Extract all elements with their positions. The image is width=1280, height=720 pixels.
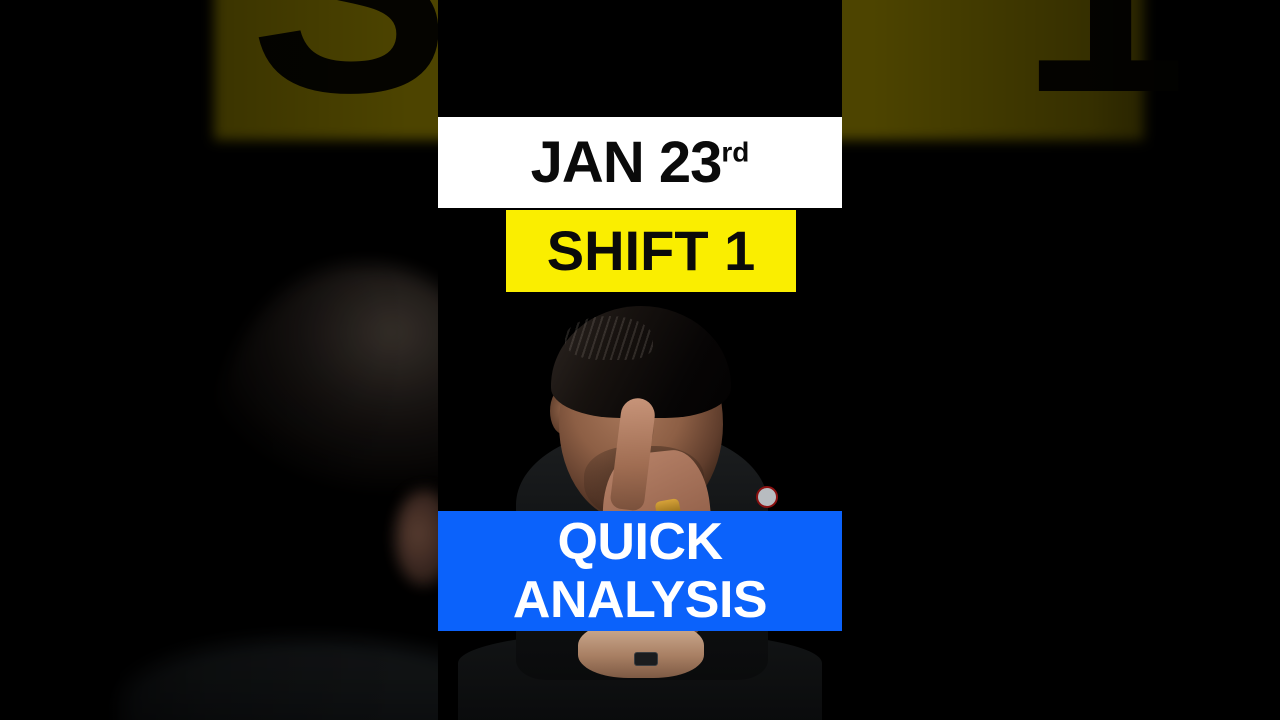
shift-banner: SHIFT 1	[506, 210, 796, 292]
shift-banner-text: SHIFT 1	[547, 223, 755, 279]
date-banner-suffix: rd	[721, 136, 749, 167]
shirt-badge	[756, 486, 778, 508]
analysis-banner-line-1: QUICK	[557, 513, 722, 571]
video-frame: Ratiu JAN 23rd SHIFT 1 QUICK ANALYSIS	[438, 0, 842, 720]
date-banner: JAN 23rd	[438, 117, 842, 208]
analysis-banner: QUICK ANALYSIS	[438, 511, 842, 631]
date-banner-text: JAN 23rd	[531, 134, 750, 192]
video-thumbnail-stage: S 1	[0, 0, 1280, 720]
analysis-banner-line-2: ANALYSIS	[513, 571, 767, 629]
date-banner-main: JAN 23	[531, 130, 722, 195]
subject-watch	[634, 652, 658, 666]
